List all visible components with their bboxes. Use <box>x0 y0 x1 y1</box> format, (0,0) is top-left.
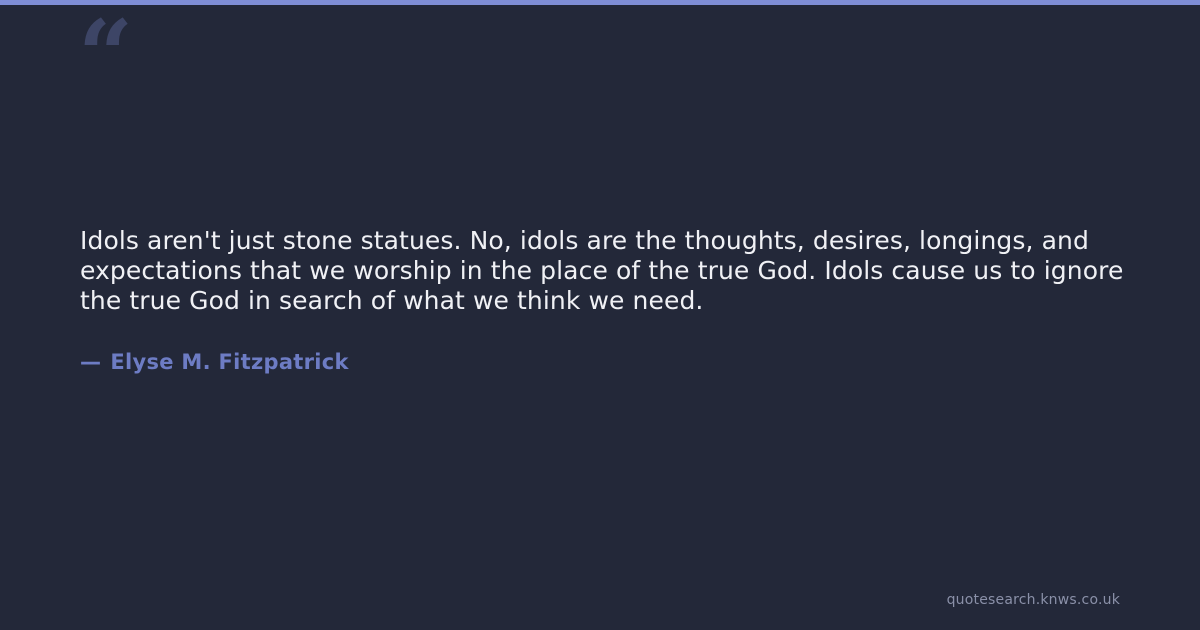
quote-text: Idols aren't just stone statues. No, ido… <box>80 226 1128 316</box>
quote-card: “ Idols aren't just stone statues. No, i… <box>0 0 1200 630</box>
author-name: Elyse M. Fitzpatrick <box>110 350 349 374</box>
quote-attribution: —Elyse M. Fitzpatrick <box>80 348 349 376</box>
attribution-dash: — <box>80 350 101 374</box>
top-accent-bar <box>0 0 1200 5</box>
site-watermark: quotesearch.knws.co.uk <box>947 590 1120 610</box>
quotation-mark-icon: “ <box>78 8 131 104</box>
